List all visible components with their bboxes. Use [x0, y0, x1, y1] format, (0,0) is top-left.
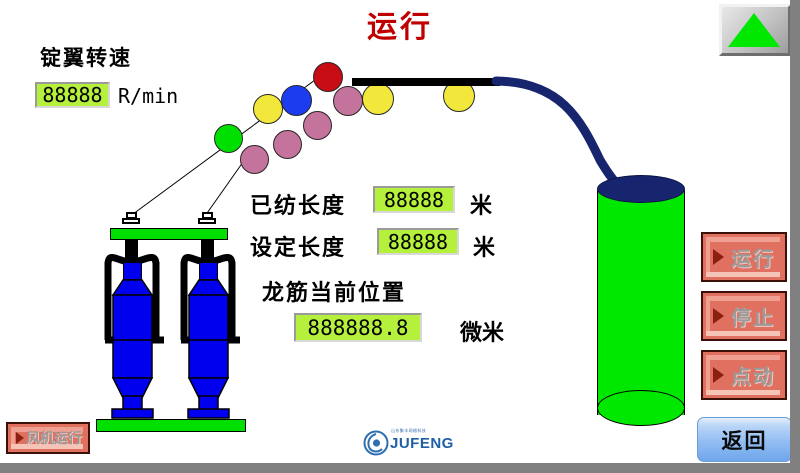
button-highlight-top: [706, 355, 780, 360]
rib-position-unit: 微米: [460, 315, 504, 347]
spun-length-unit: 米: [470, 188, 492, 220]
sliver-can-top: [597, 175, 685, 203]
roller-pink-4: [333, 86, 363, 116]
sliver-can-body: [597, 190, 685, 415]
button-highlight-left: [706, 355, 710, 395]
set-length-unit: 米: [473, 230, 495, 262]
top-rail-bar: [352, 78, 500, 86]
spun-length-label: 已纺长度: [250, 188, 346, 220]
bobbin-left-neck: [123, 262, 142, 280]
play-arrow-icon: [16, 432, 24, 444]
fan-run-button[interactable]: 风机运行: [6, 422, 90, 454]
play-arrow-icon: [713, 367, 724, 383]
rib-position-label: 龙筋当前位置: [262, 275, 406, 307]
flyer-speed-value[interactable]: 88888: [35, 82, 110, 108]
triangle-up-icon: [728, 13, 780, 47]
run-button-label: 运行: [727, 243, 779, 272]
set-length-value[interactable]: 88888: [377, 228, 459, 255]
sliver-can-bottom: [597, 390, 685, 426]
roller-pink-2: [273, 130, 302, 159]
bobbin-right-neck: [199, 262, 218, 280]
play-arrow-icon: [713, 308, 724, 324]
stop-button[interactable]: 停止: [701, 291, 787, 341]
run-button[interactable]: 运行: [701, 232, 787, 282]
jufeng-swirl-icon: [363, 430, 389, 456]
right-gutter: [790, 0, 800, 473]
roller-yellow-2: [362, 83, 394, 115]
bottom-gutter: [0, 463, 800, 473]
hmi-screen: 运行 锭翼转速 88888 R/min 已纺长度 88888 米 设定长度 88…: [0, 0, 800, 473]
roller-pink-1: [240, 145, 269, 174]
spindle-shaft-right: [201, 240, 214, 264]
spindle-shaft-left: [125, 240, 138, 264]
jufeng-logo-word: JUFENG: [390, 435, 454, 452]
bottom-rail: [96, 419, 246, 432]
button-highlight-left: [706, 237, 710, 277]
bolt-left-cap: [126, 212, 137, 219]
roller-blue: [281, 85, 312, 116]
roller-pink-3: [303, 111, 332, 140]
jufeng-logo: 山东聚丰网络科技 JUFENG: [363, 428, 458, 456]
jog-button-label: 点动: [727, 361, 779, 390]
up-triangle-button[interactable]: [719, 4, 791, 56]
roller-green: [214, 124, 243, 153]
jufeng-logo-subtext: 山东聚丰网络科技: [391, 428, 426, 434]
spun-length-value[interactable]: 88888: [373, 186, 455, 213]
button-highlight-top: [706, 237, 780, 242]
roller-red: [313, 62, 343, 92]
button-highlight-bottom: [706, 272, 780, 277]
stop-button-label: 停止: [727, 302, 779, 331]
button-highlight-bottom: [706, 390, 780, 395]
fan-run-button-label: 风机运行: [26, 428, 82, 448]
button-highlight-bottom: [706, 331, 780, 336]
return-button[interactable]: 返回: [697, 417, 792, 462]
set-length-label: 设定长度: [250, 230, 346, 262]
roller-yellow-1: [253, 94, 283, 124]
flyer-speed-unit: R/min: [118, 84, 178, 108]
top-rail: [110, 228, 228, 240]
play-arrow-icon: [713, 249, 724, 265]
button-highlight-top: [706, 296, 780, 301]
flyer-speed-label: 锭翼转速: [40, 42, 132, 72]
rib-position-value[interactable]: 888888.8: [294, 313, 422, 342]
jog-button[interactable]: 点动: [701, 350, 787, 400]
bolt-right-cap: [202, 212, 213, 219]
page-title: 运行: [320, 2, 480, 46]
button-highlight-left: [706, 296, 710, 336]
